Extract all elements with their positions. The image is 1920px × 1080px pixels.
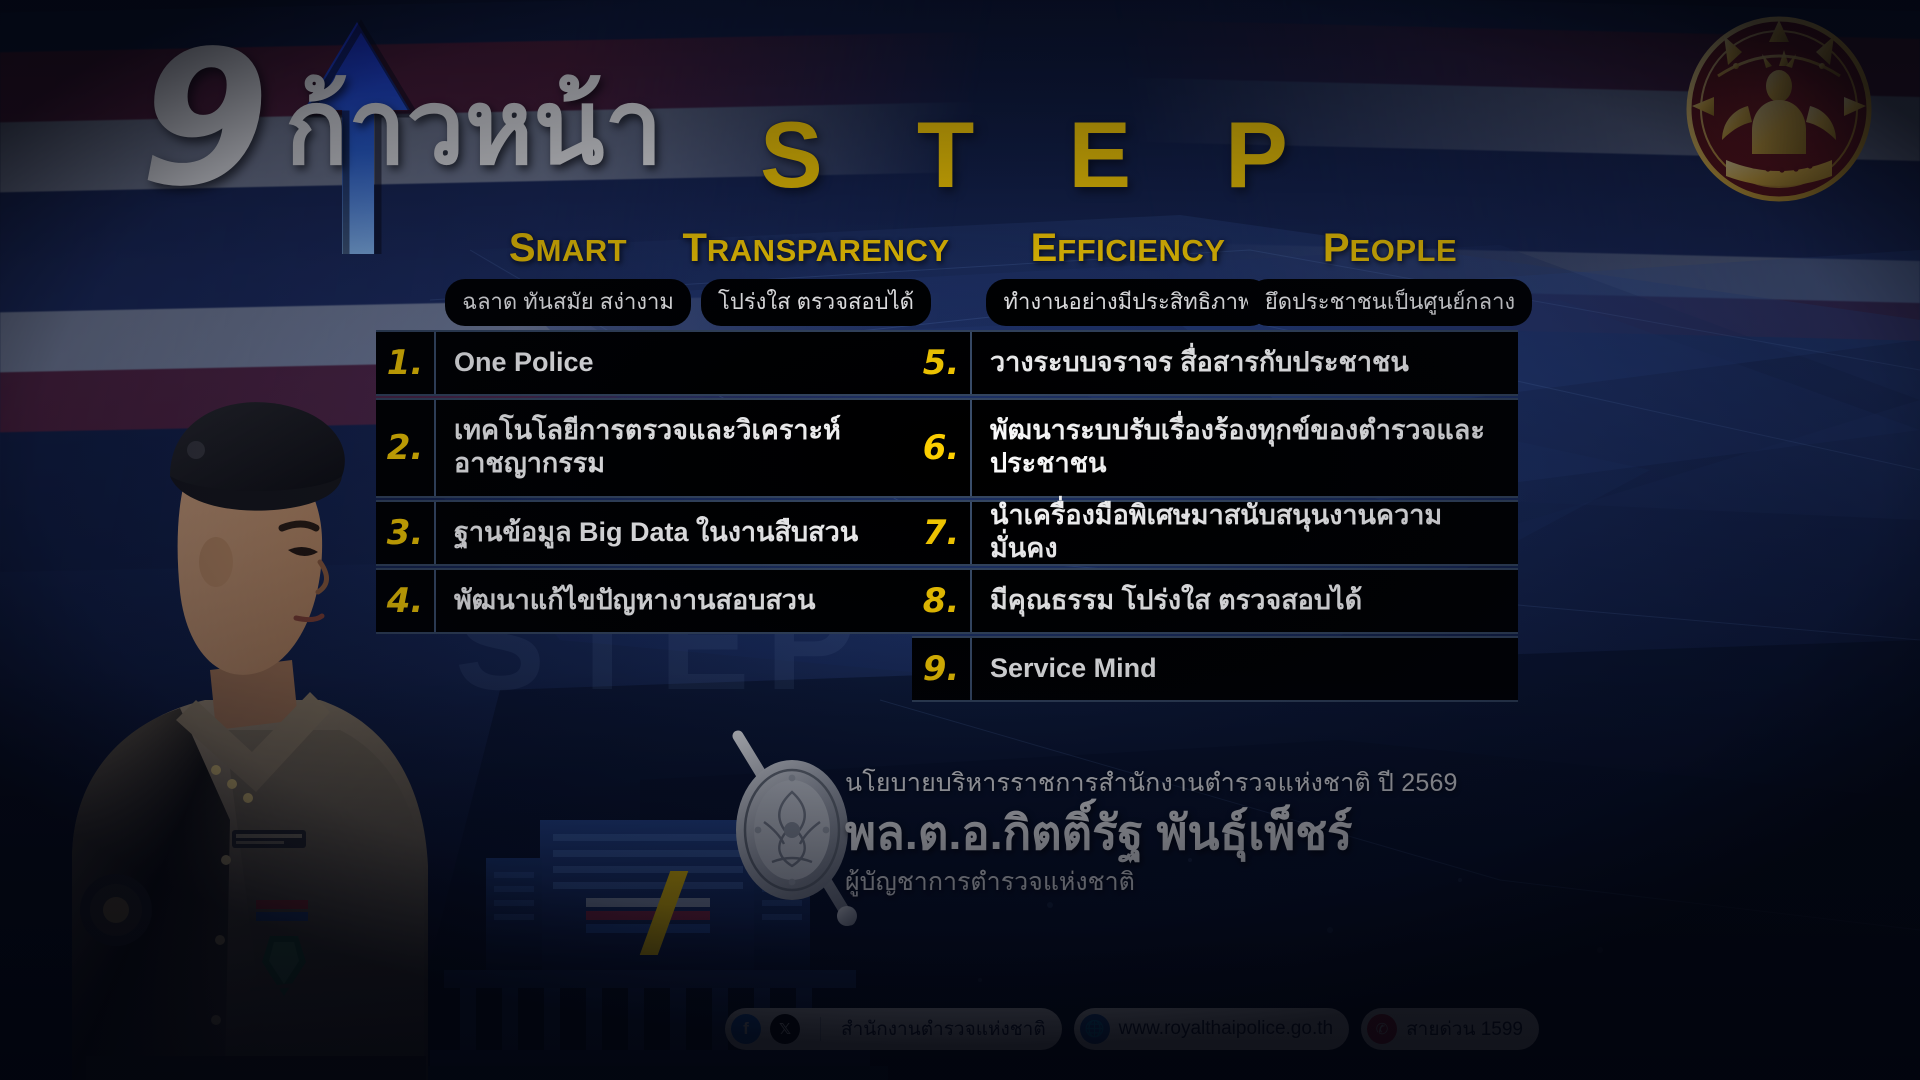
hotline-number: สายด่วน 1599 [1406, 1014, 1523, 1044]
list-number: 4. [376, 570, 436, 632]
list-text: เทคโนโลยีการตรวจและวิเคราะห์อาชญากรรม [436, 400, 912, 496]
table-row: 7. นำเครื่องมือพิเศษมาสนับสนุนงานความมั่… [912, 500, 1518, 566]
policy-caption: นโยบายบริหารราชการสำนักงานตำรวจแห่งชาติ … [845, 763, 1545, 803]
list-number: 2. [376, 400, 436, 496]
commissioner-role: ผู้บัญชาการตำรวจแห่งชาติ [845, 862, 1545, 902]
chip-divider [820, 1017, 821, 1041]
list-text: นำเครื่องมือพิเศษมาสนับสนุนงานความมั่นคง [972, 502, 1518, 564]
pillar-people-rest: EOPLE [1350, 233, 1458, 268]
table-row: 1. One Police [376, 330, 912, 396]
facebook-icon[interactable]: f [731, 1014, 761, 1044]
pillar-people: PEOPLE ยึดประชาชนเป็นศูนย์กลาง [1240, 226, 1540, 326]
pillar-efficiency-cap: E [1031, 226, 1058, 270]
pillar-people-pill: ยึดประชาชนเป็นศูนย์กลาง [1248, 279, 1532, 326]
list-number: 6. [912, 400, 972, 496]
royal-thai-police-emblem [1684, 14, 1874, 204]
policy-list-left: 1. One Police 2. เทคโนโลยีการตรวจและวิเค… [376, 330, 912, 636]
table-row: 5. วางระบบจราจร สื่อสารกับประชาชน [912, 330, 1518, 396]
phone-icon: ✆ [1367, 1014, 1397, 1044]
list-number: 7. [912, 502, 972, 564]
pillar-transparency-rest: RANSPARENCY [707, 233, 950, 268]
commissioner-name: พล.ต.อ.กิตติ์รัฐ พันธุ์เพ็ชร์ [845, 805, 1545, 860]
x-twitter-icon[interactable]: 𝕏 [770, 1014, 800, 1044]
table-row: 8. มีคุณธรรม โปร่งใส ตรวจสอบได้ [912, 568, 1518, 634]
table-row: 2. เทคโนโลยีการตรวจและวิเคราะห์อาชญากรรม [376, 398, 912, 498]
social-account-name: สำนักงานตำรวจแห่งชาติ [841, 1014, 1046, 1044]
list-number: 9. [912, 638, 972, 700]
step-headline: S T E P [760, 108, 1322, 202]
pillar-transparency-pill: โปร่งใส ตรวจสอบได้ [701, 279, 931, 326]
list-text: Service Mind [972, 638, 1518, 700]
list-number: 5. [912, 332, 972, 394]
list-text: พัฒนาแก้ไขปัญหางานสอบสวน [436, 570, 912, 632]
pillar-transparency-cap: T [682, 226, 706, 270]
infographic-poster: STEP [0, 0, 1920, 1080]
pillar-smart-rest: MART [536, 233, 628, 268]
pillar-efficiency-pill: ทำงานอย่างมีประสิทธิภาพ [986, 279, 1269, 326]
table-row: 3. ฐานข้อมูล Big Data ในงานสืบสวน [376, 500, 912, 566]
policy-list-right: 5. วางระบบจราจร สื่อสารกับประชาชน 6. พัฒ… [912, 330, 1518, 704]
list-text: ฐานข้อมูล Big Data ในงานสืบสวน [436, 502, 912, 564]
list-number: 8. [912, 570, 972, 632]
list-text: One Police [436, 332, 912, 394]
pillar-transparency: TRANSPARENCY โปร่งใส ตรวจสอบได้ [646, 226, 986, 326]
headline-thai: ก้าวหน้า [285, 76, 663, 180]
table-row: 9. Service Mind [912, 636, 1518, 702]
step-pillars: SMART ฉลาด ทันสมัย สง่างาม TRANSPARENCY … [380, 226, 1540, 326]
globe-icon: 🌐 [1080, 1014, 1110, 1044]
list-text: พัฒนาระบบรับเรื่องร้องทุกข์ของตำรวจและปร… [972, 400, 1518, 496]
social-chip[interactable]: f 𝕏 สำนักงานตำรวจแห่งชาติ [725, 1008, 1062, 1050]
list-text: มีคุณธรรม โปร่งใส ตรวจสอบได้ [972, 570, 1518, 632]
pillar-efficiency-rest: FFICIENCY [1057, 233, 1225, 268]
pillar-smart-cap: S [509, 226, 536, 270]
website-chip[interactable]: 🌐 www.royalthaipolice.go.th [1074, 1008, 1349, 1050]
signature-block: นโยบายบริหารราชการสำนักงานตำรวจแห่งชาติ … [845, 763, 1545, 902]
table-row: 4. พัฒนาแก้ไขปัญหางานสอบสวน [376, 568, 912, 634]
headline-number: 9 [140, 26, 269, 212]
website-url[interactable]: www.royalthaipolice.go.th [1119, 1018, 1333, 1040]
hotline-chip[interactable]: ✆ สายด่วน 1599 [1361, 1008, 1539, 1050]
table-row: 6. พัฒนาระบบรับเรื่องร้องทุกข์ของตำรวจแล… [912, 398, 1518, 498]
footer-contact-bar: f 𝕏 สำนักงานตำรวจแห่งชาติ 🌐 www.royaltha… [725, 1006, 1539, 1052]
list-number: 3. [376, 502, 436, 564]
pillar-people-word: PEOPLE [1240, 226, 1540, 271]
list-text: วางระบบจราจร สื่อสารกับประชาชน [972, 332, 1518, 394]
list-number: 1. [376, 332, 436, 394]
pillar-transparency-word: TRANSPARENCY [646, 226, 986, 271]
pillar-people-cap: P [1323, 226, 1350, 270]
